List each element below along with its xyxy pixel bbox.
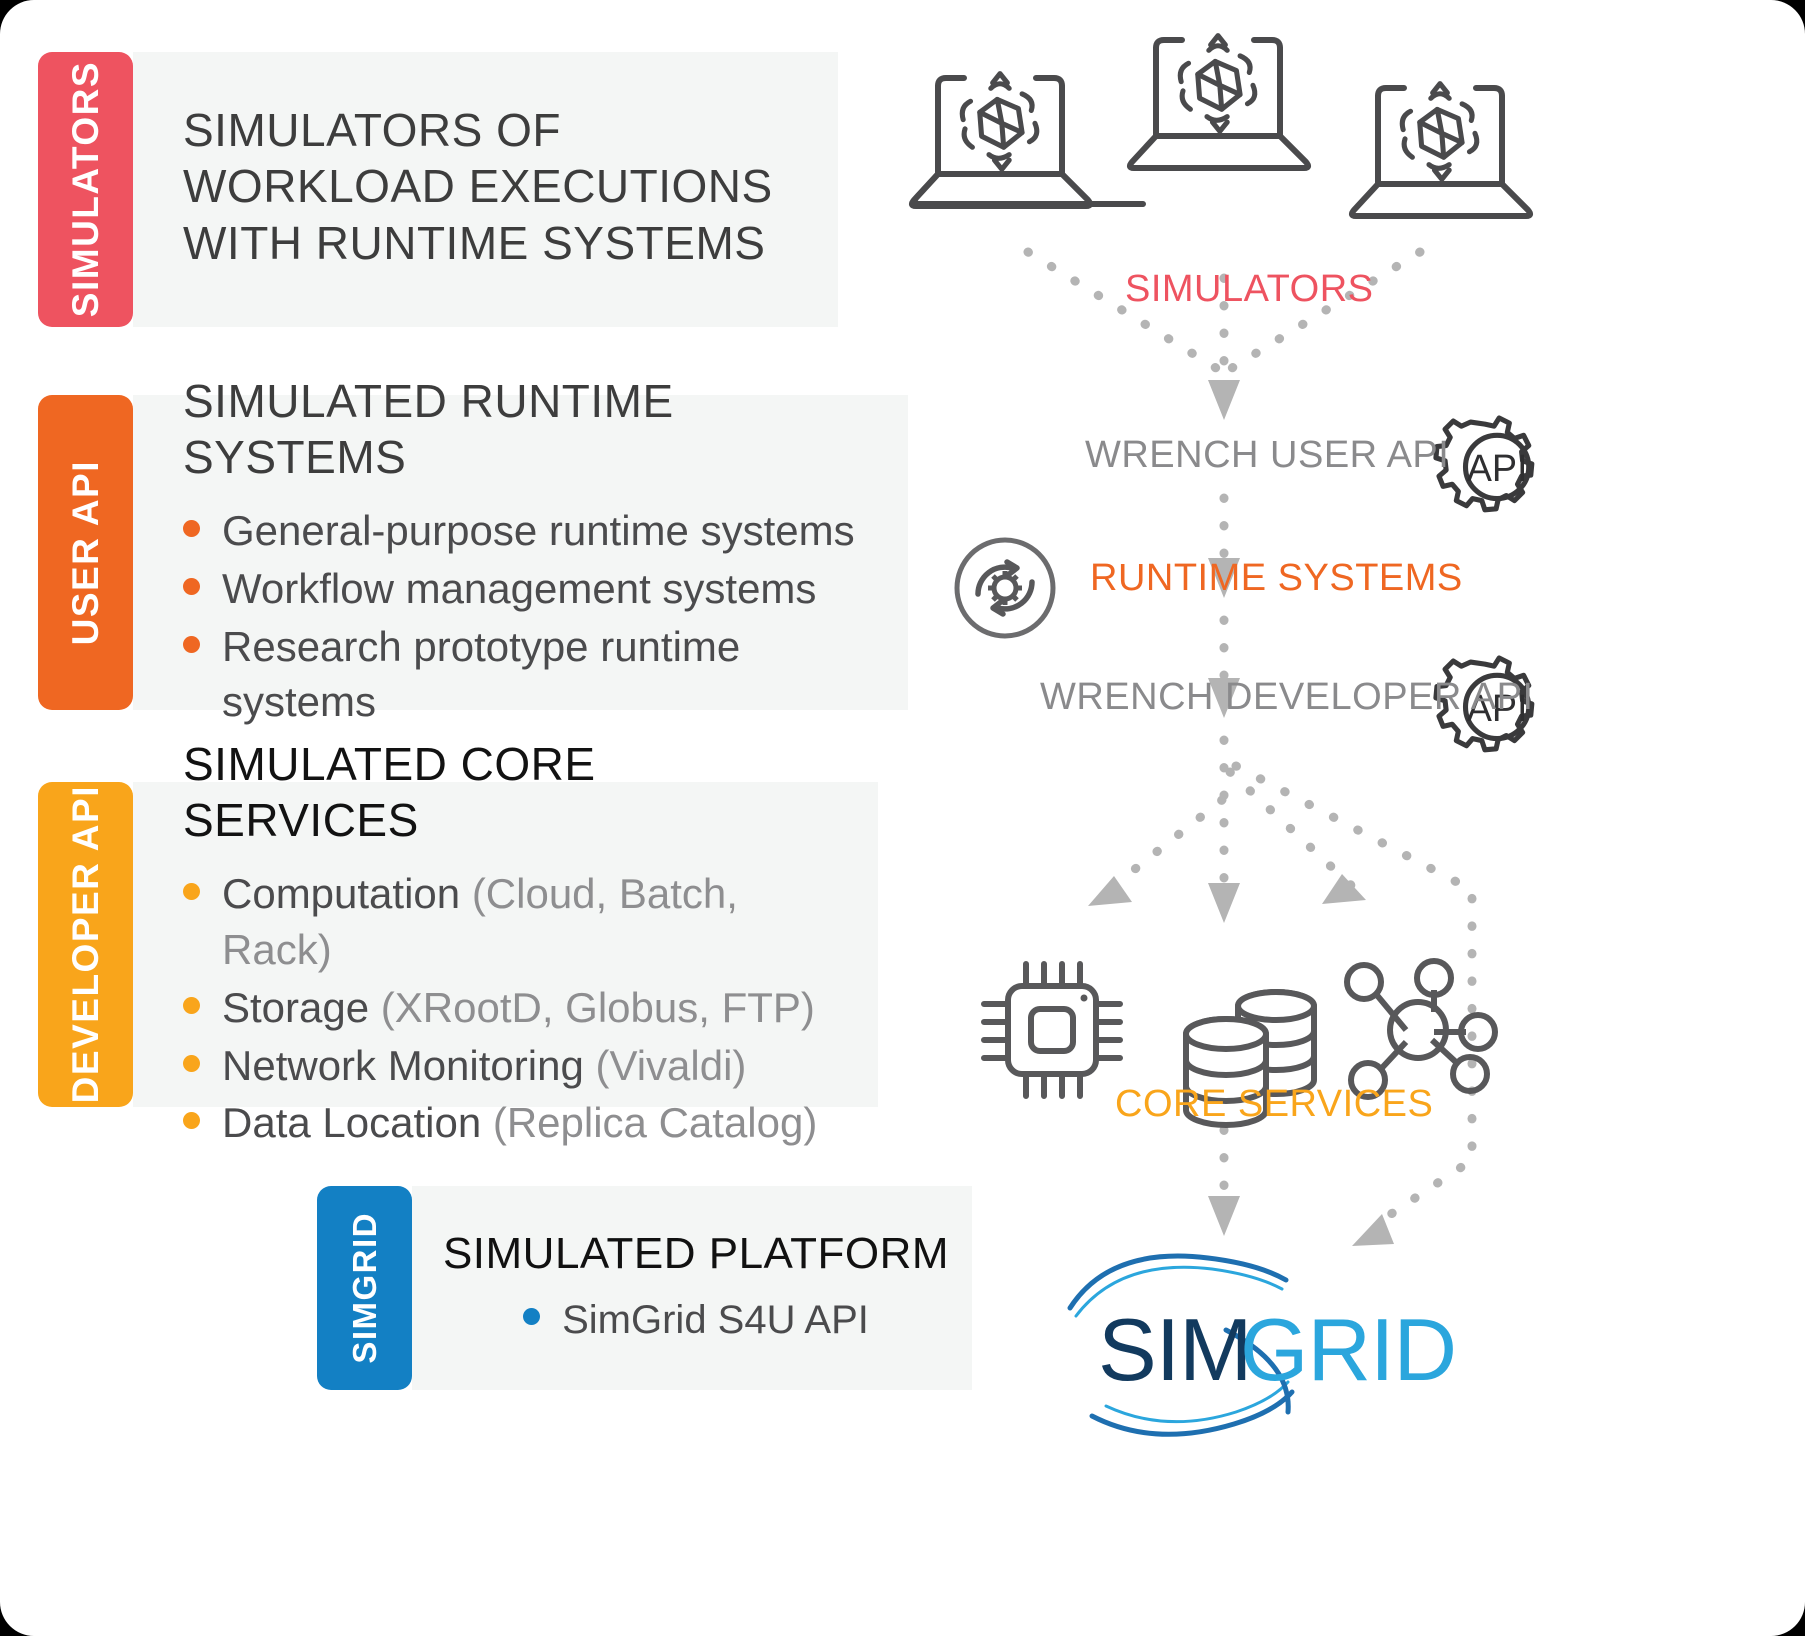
diagram-label-simulators: SIMULATORS xyxy=(1125,268,1374,311)
cpu-chip-icon xyxy=(984,964,1120,1096)
layer-title-simgrid: SIMULATED PLATFORM xyxy=(438,1227,954,1281)
bullet-dot-icon xyxy=(183,636,200,653)
diagram-label-wrench-user-api: WRENCH USER API xyxy=(1085,434,1449,477)
flow-diagram: API xyxy=(900,30,1780,1590)
list-item-detail: (Vivaldi) xyxy=(595,1042,746,1089)
list-item: Storage (XRootD, Globus, FTP) xyxy=(183,980,842,1036)
arrowhead-core-center xyxy=(1208,883,1240,923)
bullet-list-developer-api: Computation (Cloud, Batch, Rack) Storage… xyxy=(183,864,842,1153)
layer-card-developer-api: DEVELOPER API SIMULATED CORE SERVICES Co… xyxy=(38,782,878,1107)
list-item: Research prototype runtime systems xyxy=(183,619,872,731)
list-item-label: SimGrid S4U API xyxy=(562,1294,869,1347)
diagram-label-runtime-systems: RUNTIME SYSTEMS xyxy=(1090,557,1463,600)
list-item-label: General-purpose runtime systems xyxy=(222,503,855,559)
bullet-dot-icon xyxy=(183,997,200,1014)
layer-tab-label: DEVELOPER API xyxy=(65,785,107,1103)
bullet-dot-icon xyxy=(183,520,200,537)
arrowhead-to-simgrid xyxy=(1208,1196,1240,1236)
layer-card-simulators: SIMULATORS SIMULATORS OF WORKLOAD EXECUT… xyxy=(38,52,838,327)
arrow-devapi-right xyxy=(1230,772,1354,888)
list-item-label: Computation xyxy=(222,870,460,917)
list-item: General-purpose runtime systems xyxy=(183,503,872,559)
laptop-icon-middle xyxy=(1130,36,1308,168)
list-item: Network Monitoring (Vivaldi) xyxy=(183,1038,842,1094)
api-gear-icon-user xyxy=(1436,418,1532,510)
layer-tab-label: SIMGRID xyxy=(346,1212,384,1364)
arrowhead-core-left xyxy=(1088,876,1132,906)
bullet-dot-icon xyxy=(183,578,200,595)
list-item-detail: (XRootD, Globus, FTP) xyxy=(381,984,815,1031)
layer-tab-simulators: SIMULATORS xyxy=(38,52,133,327)
bullet-list-user-api: General-purpose runtime systems Workflow… xyxy=(183,501,872,732)
layer-card-user-api: USER API SIMULATED RUNTIME SYSTEMS Gener… xyxy=(38,395,908,710)
laptop-icon-left xyxy=(912,74,1143,206)
list-item-label: Research prototype runtime systems xyxy=(222,619,872,731)
arrowhead-bypass-to-simgrid xyxy=(1352,1214,1394,1246)
layer-tab-simgrid: SIMGRID xyxy=(317,1186,412,1390)
list-item: Computation (Cloud, Batch, Rack) xyxy=(183,866,842,978)
diagram-label-core-services: CORE SERVICES xyxy=(1115,1083,1433,1126)
layer-body-user-api: SIMULATED RUNTIME SYSTEMS General-purpos… xyxy=(133,395,908,710)
layer-title-user-api: SIMULATED RUNTIME SYSTEMS xyxy=(183,373,872,485)
layer-card-simgrid: SIMGRID SIMULATED PLATFORM SimGrid S4U A… xyxy=(317,1186,972,1390)
layer-body-simgrid: SIMULATED PLATFORM SimGrid S4U API xyxy=(412,1186,972,1390)
flow-diagram-svg: API xyxy=(900,30,1780,1590)
bullet-list-simgrid: SimGrid S4U API xyxy=(438,1292,954,1349)
list-item: Data Location (Replica Catalog) xyxy=(183,1095,842,1151)
list-item: SimGrid S4U API xyxy=(438,1294,954,1347)
layer-title-developer-api: SIMULATED CORE SERVICES xyxy=(183,736,842,848)
layer-tab-developer-api: DEVELOPER API xyxy=(38,782,133,1107)
list-item: Workflow management systems xyxy=(183,561,872,617)
layer-tab-label: SIMULATORS xyxy=(65,61,107,317)
laptop-icon-right xyxy=(1352,84,1530,216)
simgrid-logo-text-part2: GRID xyxy=(1240,1300,1456,1399)
list-item-label: Storage xyxy=(222,984,369,1031)
bullet-dot-icon xyxy=(183,1112,200,1129)
layer-tab-user-api: USER API xyxy=(38,395,133,710)
diagram-canvas: SIMULATORS SIMULATORS OF WORKLOAD EXECUT… xyxy=(0,0,1805,1636)
simgrid-logo: SIM GRID xyxy=(1070,1256,1456,1434)
arrow-devapi-left xyxy=(1106,800,1222,892)
simgrid-logo-text-part1: SIM xyxy=(1098,1300,1251,1399)
bullet-dot-icon xyxy=(183,1055,200,1072)
runtime-gear-cycle-icon xyxy=(957,540,1053,636)
bullet-dot-icon xyxy=(523,1308,540,1325)
list-item-label: Workflow management systems xyxy=(222,561,816,617)
layer-body-developer-api: SIMULATED CORE SERVICES Computation (Clo… xyxy=(133,782,878,1107)
list-item-label: Network Monitoring xyxy=(222,1042,584,1089)
list-item-label: Data Location xyxy=(222,1099,481,1146)
diagram-label-wrench-developer-api: WRENCH DEVELOPER API xyxy=(1040,676,1534,719)
bullet-dot-icon xyxy=(183,883,200,900)
arrowhead-to-user-api xyxy=(1208,380,1240,420)
layer-body-simulators: SIMULATORS OF WORKLOAD EXECUTIONS WITH R… xyxy=(133,52,838,327)
layer-tab-label: USER API xyxy=(65,460,107,645)
layer-title-simulators: SIMULATORS OF WORKLOAD EXECUTIONS WITH R… xyxy=(183,102,802,270)
list-item-detail: (Replica Catalog) xyxy=(493,1099,817,1146)
arrowhead-core-right xyxy=(1322,874,1366,904)
